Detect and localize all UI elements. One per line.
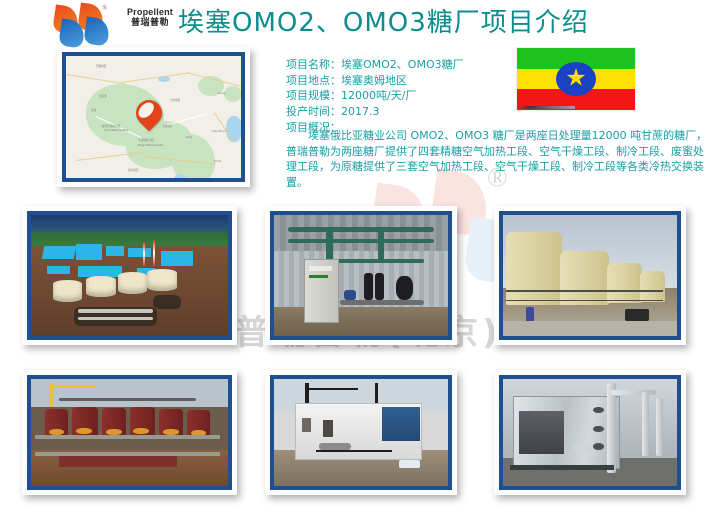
project-scale-line: 项目规模：12000吨/天/厂 (286, 88, 536, 104)
photo-frame-evaporators[interactable] (22, 370, 237, 495)
map-frame-inner: 巴黎地区 温尼亚 奎拉 欧莫萨国家公园 Omo National Park 马戈… (62, 52, 245, 182)
photo-pump-skid (274, 215, 448, 336)
brand-name-en: Propellent (120, 7, 180, 17)
project-location-line: 项目地点：埃塞奥姆地区 (286, 73, 536, 89)
project-name-line: 项目名称：埃塞OMO2、OMO3糖厂 (286, 57, 536, 73)
registered-trademark-icon: ® (102, 4, 107, 12)
page-title: 埃塞OMO2、OMO3糖厂项目介绍 (178, 2, 589, 39)
project-location-map[interactable]: 巴黎地区 温尼亚 奎拉 欧莫萨国家公园 Omo National Park 马戈… (66, 56, 241, 178)
photo-air-handling-unit-white (274, 379, 448, 486)
photo-air-handling-unit-steel (503, 379, 677, 486)
flag-star-icon: ★ (565, 67, 587, 91)
control-cabinet (304, 259, 339, 324)
photo-frame-pump-skid[interactable] (265, 206, 457, 345)
flag-emblem-disc: ★ (556, 62, 596, 96)
photo-frame-storage-tanks[interactable] (494, 206, 686, 345)
propellent-logo-icon: ® (52, 4, 114, 40)
photo-evaporators (31, 379, 228, 486)
header: ® Propellent 普瑞普勒 埃塞OMO2、OMO3糖厂项目介绍 (0, 0, 720, 44)
photo-frame-ahu-white[interactable] (265, 370, 457, 495)
photo-storage-tanks (503, 215, 677, 336)
photo-aerial-plant (31, 215, 228, 336)
project-date-line: 投产时间：2017.3 (286, 104, 536, 120)
photo-frame-ahu-steel[interactable] (494, 370, 686, 495)
photo-frame-aerial-plant[interactable] (22, 206, 237, 345)
slide-canvas: ® 普瑞普勒(北京) ® Propellent 普瑞普勒 埃塞OMO2、OMO3… (0, 0, 720, 506)
ethiopia-flag-icon: ★ (516, 47, 636, 111)
project-description: 埃塞俄比亚糖业公司 OMO2、OMO3 糖厂是两座日处理量12000 吨甘蔗的糖… (286, 128, 711, 190)
brand-name-cn: 普瑞普勒 (120, 17, 180, 27)
brand-block: Propellent 普瑞普勒 (120, 7, 180, 28)
flag-caption-bar (519, 106, 575, 109)
project-info-list: 项目名称：埃塞OMO2、OMO3糖厂 项目地点：埃塞奥姆地区 项目规模：1200… (286, 57, 536, 136)
map-frame: 巴黎地区 温尼亚 奎拉 欧莫萨国家公园 Omo National Park 马戈… (57, 47, 250, 187)
